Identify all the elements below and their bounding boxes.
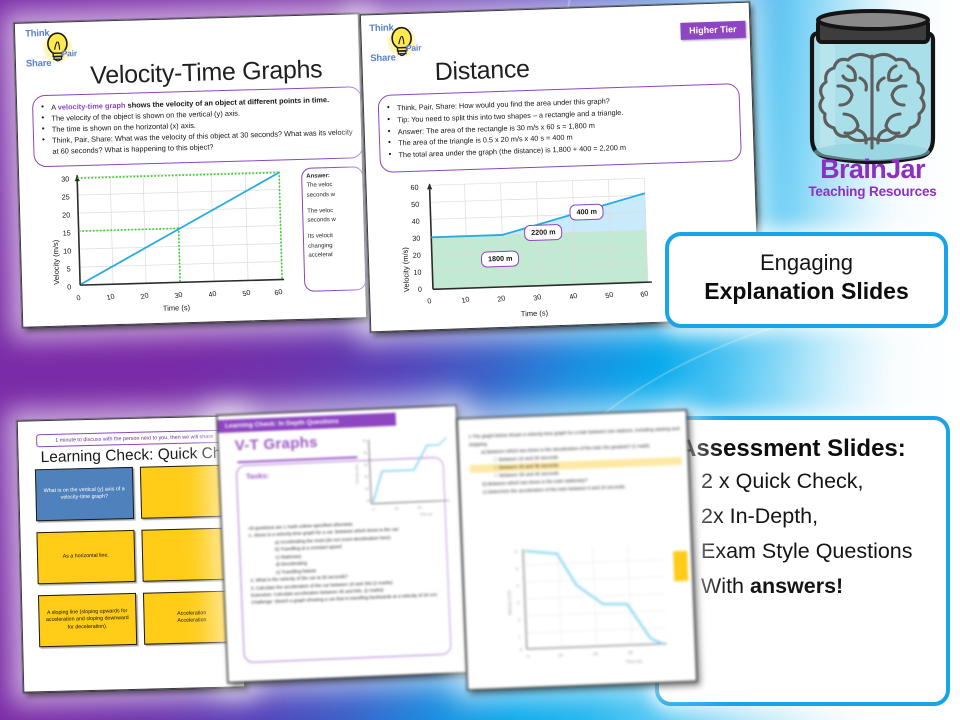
svg-text:40: 40 — [417, 506, 421, 510]
tps-share-label: Share — [370, 52, 396, 64]
chart-slide5-mini-vt: 654 321 0 0102030 Velocity (m/s) Time (s… — [497, 539, 674, 672]
poster-canvas: Think Pair Share Velocity-Time Graphs A … — [0, 0, 960, 720]
callout2-item: Exam Style Questions — [673, 539, 936, 564]
svg-text:Velocity (m/s): Velocity (m/s) — [506, 590, 512, 616]
svg-text:0: 0 — [527, 654, 530, 659]
tps-pair-label: Pair — [62, 48, 78, 58]
slide4-task-label: Tasks: — [246, 471, 270, 481]
svg-text:20: 20 — [394, 507, 398, 511]
brand-name: BrainJar — [790, 154, 955, 185]
svg-text:10: 10 — [558, 653, 564, 658]
tps-think-label: Think — [25, 28, 50, 40]
slide-thumbnail-learning-check-quick[interactable]: 1 minute to discuss with the person next… — [17, 415, 246, 692]
svg-text:1: 1 — [518, 634, 521, 639]
svg-text:20: 20 — [593, 651, 599, 656]
svg-text:30: 30 — [364, 475, 368, 479]
svg-text:3: 3 — [517, 600, 520, 605]
brandjar-logo: BrainJar Teaching Resources — [790, 4, 955, 216]
svg-text:5: 5 — [516, 566, 519, 571]
callout2-item: With answers! — [673, 574, 936, 599]
svg-text:4: 4 — [516, 583, 519, 588]
callout-explanation-slides[interactable]: Engaging Explanation Slides — [665, 232, 948, 328]
svg-text:20: 20 — [365, 487, 369, 491]
svg-text:2: 2 — [518, 617, 521, 622]
svg-text:0: 0 — [373, 508, 375, 512]
svg-text:Velocity (m/s): Velocity (m/s) — [355, 464, 360, 485]
area-tag-400m: 400 m — [569, 204, 604, 221]
chart-distance-area: Velocity (m/s) Time (s) 60 50 40 30 20 1… — [396, 173, 671, 327]
area-tag-2200m: 2200 m — [524, 224, 563, 241]
tps-pair-label: Pair — [406, 43, 422, 54]
chart-slide4-mini-vt: 605040 302010 02040 Velocity (m/s) Time … — [351, 432, 454, 521]
slide4-title: V-T Graphs — [234, 434, 318, 454]
think-pair-share-badge: Think Pair Share — [369, 21, 432, 69]
slide3-answer-box[interactable]: A sloping line (sloping upwards for acce… — [38, 593, 137, 647]
area-tag-1800m: 1800 m — [481, 250, 520, 267]
slide1-answer-heading: Answer: — [306, 173, 330, 180]
tps-share-label: Share — [26, 58, 52, 70]
slide-thumbnail-velocity-time-graphs[interactable]: Think Pair Share Velocity-Time Graphs A … — [14, 13, 367, 328]
svg-text:10: 10 — [366, 499, 370, 503]
svg-text:Time (s): Time (s) — [420, 512, 432, 517]
slide4-question-list: All questions are 1 mark unless specifie… — [248, 517, 451, 607]
slide-thumbnail-vt-graphs-in-depth[interactable]: Learning Check: In Depth Questions V-T G… — [216, 405, 467, 683]
callout1-line2: Explanation Slides — [669, 278, 944, 305]
callout2-list: 2 x Quick Check, 2x In-Depth, Exam Style… — [673, 469, 936, 599]
svg-text:50: 50 — [363, 451, 367, 455]
slide-thumbnail-exam-style-questions[interactable]: 1 The graph below shows a velocity-time … — [457, 410, 697, 691]
think-pair-share-badge: Think Pair Share — [25, 27, 88, 75]
svg-text:6: 6 — [515, 549, 518, 554]
slide5-yellow-marker — [673, 551, 688, 582]
chart-velocity-time-linear: Velocity (m/s) Time (s) 30 25 20 15 10 5… — [47, 166, 301, 321]
chart1-plot — [47, 166, 301, 321]
svg-text:Time (s): Time (s) — [625, 659, 642, 665]
slide3-column-left: What is on the vertical (y) axis of a ve… — [35, 467, 137, 647]
slide3-question-box[interactable]: What is on the vertical (y) axis of a ve… — [35, 467, 134, 521]
slide3-answer-box[interactable]: As a horizontal line. — [36, 530, 135, 584]
svg-text:40: 40 — [364, 463, 368, 467]
slide2-title: Distance — [434, 55, 530, 87]
svg-text:60: 60 — [363, 439, 367, 443]
callout2-item: 2 x Quick Check, — [673, 469, 936, 494]
tps-think-label: Think — [369, 22, 394, 34]
slide1-answer-panel: Answer: The veloc seconds w The veloc se… — [301, 166, 366, 292]
brand-tagline: Teaching Resources — [790, 184, 955, 199]
slide3-title: Learning Check: Quick Check — [40, 444, 245, 467]
svg-text:0: 0 — [520, 647, 523, 652]
callout2-heading: Assessment Slides: — [679, 435, 936, 463]
slide1-bullet-panel: A velocity-time graph shows the velocity… — [32, 86, 364, 167]
higher-tier-badge: Higher Tier — [680, 21, 746, 40]
callout-assessment-slides[interactable]: Assessment Slides: 2 x Quick Check, 2x I… — [655, 416, 950, 706]
chart2-plot — [396, 173, 671, 327]
slide1-title: Velocity-Time Graphs — [90, 55, 323, 90]
callout1-line1: Engaging — [669, 250, 944, 276]
slide4-header-bar: Learning Check: In Depth Questions — [218, 413, 396, 433]
slide2-bullet-panel: Think, Pair, Share: How would you find t… — [378, 83, 742, 173]
svg-text:30: 30 — [628, 650, 634, 655]
slide1-answer-line: accelerat — [308, 250, 360, 261]
slide5-question-list: 1 The graph below shows a velocity-time … — [468, 425, 682, 497]
callout2-item: 2x In-Depth, — [673, 504, 936, 529]
slide3-answer-grid: What is on the vertical (y) axis of a ve… — [35, 464, 241, 647]
